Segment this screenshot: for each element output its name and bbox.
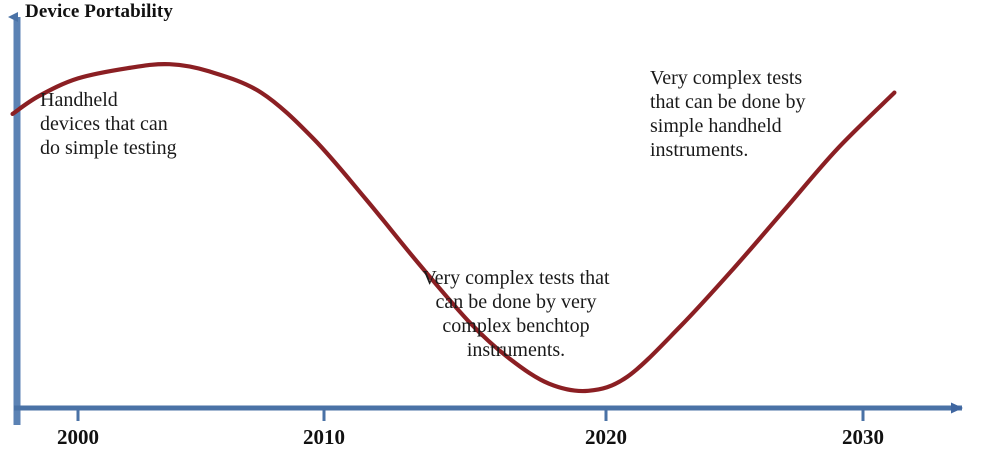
x-tick-label-2020: 2020 xyxy=(566,425,646,450)
x-tick-label-2010: 2010 xyxy=(284,425,364,450)
x-tick-label-2030: 2030 xyxy=(823,425,903,450)
x-tick-label-2000: 2000 xyxy=(38,425,118,450)
chart-plot-area xyxy=(0,0,994,463)
x-axis-ticks xyxy=(78,409,863,421)
annotation-complex-benchtop: Very complex tests that can be done by v… xyxy=(390,266,642,362)
chart-canvas: Device Portability Handheld devices that… xyxy=(0,0,994,463)
annotation-handheld-simple-testing: Handheld devices that can do simple test… xyxy=(40,88,177,160)
y-axis-title: Device Portability xyxy=(25,1,173,23)
annotation-complex-handheld: Very complex tests that can be done by s… xyxy=(650,66,806,162)
